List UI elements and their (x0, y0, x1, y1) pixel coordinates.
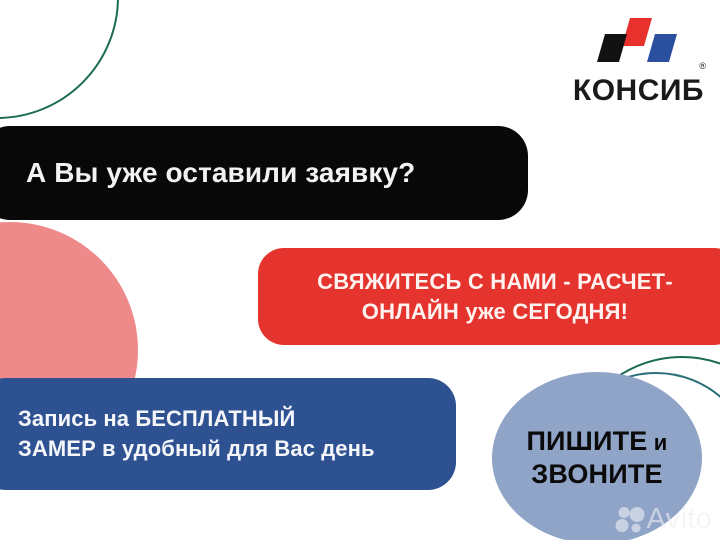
circle-cta-line1-conj: и (648, 430, 668, 455)
promo-poster: КОНСИБ ® А Вы уже оставили заявку? СВЯЖИ… (0, 0, 720, 540)
avito-watermark-text: Avito (647, 505, 712, 534)
circle-cta-line1: ПИШИТЕ и (526, 425, 667, 458)
banner-measurement-line2: ЗАМЕР в удобный для Вас день (18, 436, 375, 461)
banner-question: А Вы уже оставили заявку? (0, 126, 528, 220)
logo-shape-black (597, 34, 627, 62)
logo-wordmark: КОНСИБ (573, 76, 704, 106)
banner-measurement-text: Запись на БЕСПЛАТНЫЙ ЗАМЕР в удобный для… (18, 404, 375, 465)
logo-shape-red (622, 18, 652, 46)
logo-shape-blue (647, 34, 677, 62)
banner-contact: СВЯЖИТЕСЬ С НАМИ - РАСЧЕТ- ОНЛАЙН уже СЕ… (258, 248, 720, 345)
banner-question-text: А Вы уже оставили заявку? (26, 157, 415, 189)
circle-cta-line1-main: ПИШИТЕ (526, 426, 647, 456)
decor-circle-outline-top-left (0, 0, 119, 119)
circle-cta-line2: ЗВОНИТЕ (531, 458, 663, 491)
avito-dots-icon (615, 506, 645, 534)
banner-contact-line2-part2: уже (465, 299, 512, 324)
banner-measurement-line1: Запись на БЕСПЛАТНЫЙ (18, 406, 295, 431)
konsib-logo-mark-icon (556, 18, 706, 68)
banner-contact-line1: СВЯЖИТЕСЬ С НАМИ - РАСЧЕТ- (317, 269, 673, 294)
banner-contact-text: СВЯЖИТЕСЬ С НАМИ - РАСЧЕТ- ОНЛАЙН уже СЕ… (317, 267, 673, 325)
company-logo: КОНСИБ ® (556, 18, 706, 104)
banner-measurement: Запись на БЕСПЛАТНЫЙ ЗАМЕР в удобный для… (0, 378, 456, 490)
banner-contact-line2-part3: СЕГОДНЯ! (512, 299, 628, 324)
avito-watermark: Avito (615, 505, 712, 534)
banner-contact-line2-part1: ОНЛАЙН (362, 299, 466, 324)
registered-trademark-symbol: ® (699, 62, 706, 71)
